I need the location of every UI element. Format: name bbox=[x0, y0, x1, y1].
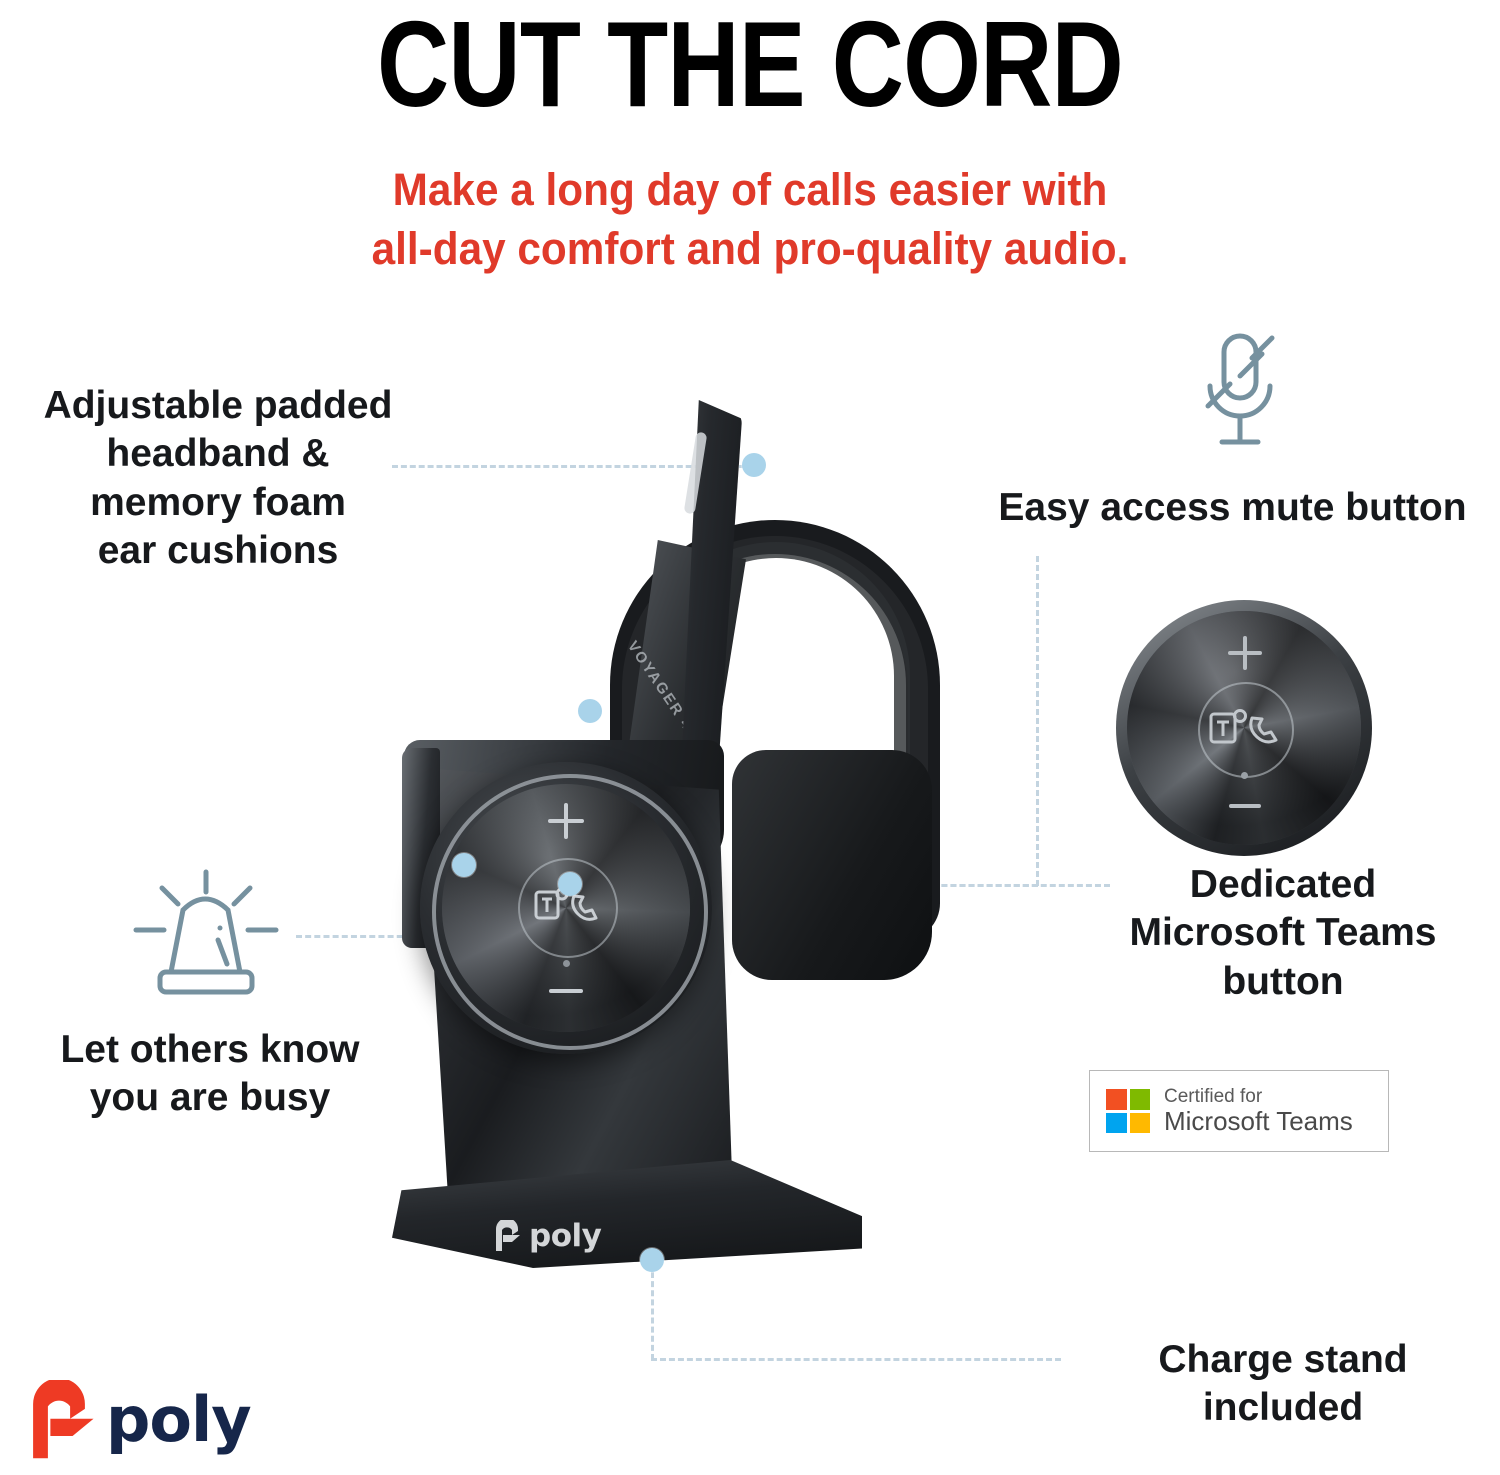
callout-teams-button: Dedicated Microsoft Teams button bbox=[1073, 861, 1493, 1006]
far-ear-cushion bbox=[732, 750, 932, 980]
callout-teams-line-1: Dedicated bbox=[1073, 861, 1493, 909]
ms-badge-line-2: Microsoft Teams bbox=[1164, 1107, 1353, 1137]
connector-charge-horizontal bbox=[651, 1358, 1061, 1361]
callout-charge-line-2: included bbox=[1073, 1384, 1493, 1432]
poly-wordmark: poly bbox=[106, 1389, 251, 1451]
callout-dot-headband bbox=[742, 453, 766, 477]
stand-poly-wordmark: poly bbox=[529, 1221, 601, 1252]
callout-teams-line-3: button bbox=[1073, 958, 1493, 1006]
ms-square-green bbox=[1130, 1089, 1151, 1110]
microsoft-logo-icon bbox=[1106, 1089, 1150, 1133]
connector-mute-vertical bbox=[1036, 556, 1039, 886]
ear-cup-status-dot bbox=[563, 960, 570, 967]
teams-button-status-dot bbox=[1241, 772, 1248, 779]
subtitle-line-1: Make a long day of calls easier with bbox=[280, 160, 1220, 219]
callout-dot-charge-stand bbox=[640, 1248, 664, 1272]
callout-headband-line-1: Adjustable padded bbox=[8, 382, 428, 430]
ms-square-blue bbox=[1106, 1113, 1127, 1134]
callout-teams-line-2: Microsoft Teams bbox=[1073, 909, 1493, 957]
page-subtitle: Make a long day of calls easier with all… bbox=[280, 160, 1220, 279]
callout-busy-light: Let others know you are busy bbox=[10, 1026, 410, 1123]
busy-light-icon bbox=[128, 868, 283, 1000]
page-title: CUT THE CORD bbox=[135, 2, 1365, 126]
poly-brand-logo: poly bbox=[22, 1378, 262, 1462]
stand-poly-logo: poly bbox=[492, 1220, 601, 1252]
callout-dot-control-disc bbox=[558, 872, 582, 896]
callout-headband-line-4: ear cushions bbox=[8, 527, 428, 575]
callout-headband-line-3: memory foam bbox=[8, 479, 428, 527]
teams-volume-up-icon bbox=[1224, 632, 1266, 674]
callout-dot-mute-led bbox=[578, 699, 602, 723]
callout-mute-line-1: Easy access mute button bbox=[965, 484, 1500, 532]
ms-badge-line-1: Certified for bbox=[1164, 1086, 1353, 1107]
ms-square-red bbox=[1106, 1089, 1127, 1110]
teams-button-closeup bbox=[1116, 600, 1372, 856]
callout-busy-line-2: you are busy bbox=[10, 1074, 410, 1122]
ms-badge-text: Certified for Microsoft Teams bbox=[1164, 1086, 1353, 1137]
callout-headband-line-2: headband & bbox=[8, 430, 428, 478]
callout-dot-busy-light bbox=[452, 853, 476, 877]
poly-mark-icon bbox=[492, 1220, 522, 1252]
callout-charge-line-1: Charge stand bbox=[1073, 1336, 1493, 1384]
callout-mute-button: Easy access mute button bbox=[965, 484, 1500, 532]
certified-for-microsoft-teams-badge: Certified for Microsoft Teams bbox=[1089, 1070, 1389, 1152]
callout-headband: Adjustable padded headband & memory foam… bbox=[8, 382, 428, 575]
callout-busy-line-1: Let others know bbox=[10, 1026, 410, 1074]
teams-call-glyph-icon bbox=[1208, 706, 1280, 752]
mute-microphone-icon bbox=[1190, 330, 1290, 465]
poly-propeller-icon bbox=[22, 1380, 96, 1460]
volume-up-icon bbox=[543, 798, 589, 844]
volume-down-icon bbox=[543, 982, 589, 1000]
product-image-voyager-headset: VOYAGER 4310 poly bbox=[380, 270, 1020, 1330]
ms-square-yellow bbox=[1130, 1113, 1151, 1134]
callout-charge-stand: Charge stand included bbox=[1073, 1336, 1493, 1433]
infographic-canvas: CUT THE CORD Make a long day of calls ea… bbox=[0, 0, 1500, 1475]
teams-volume-down-icon bbox=[1224, 798, 1266, 814]
